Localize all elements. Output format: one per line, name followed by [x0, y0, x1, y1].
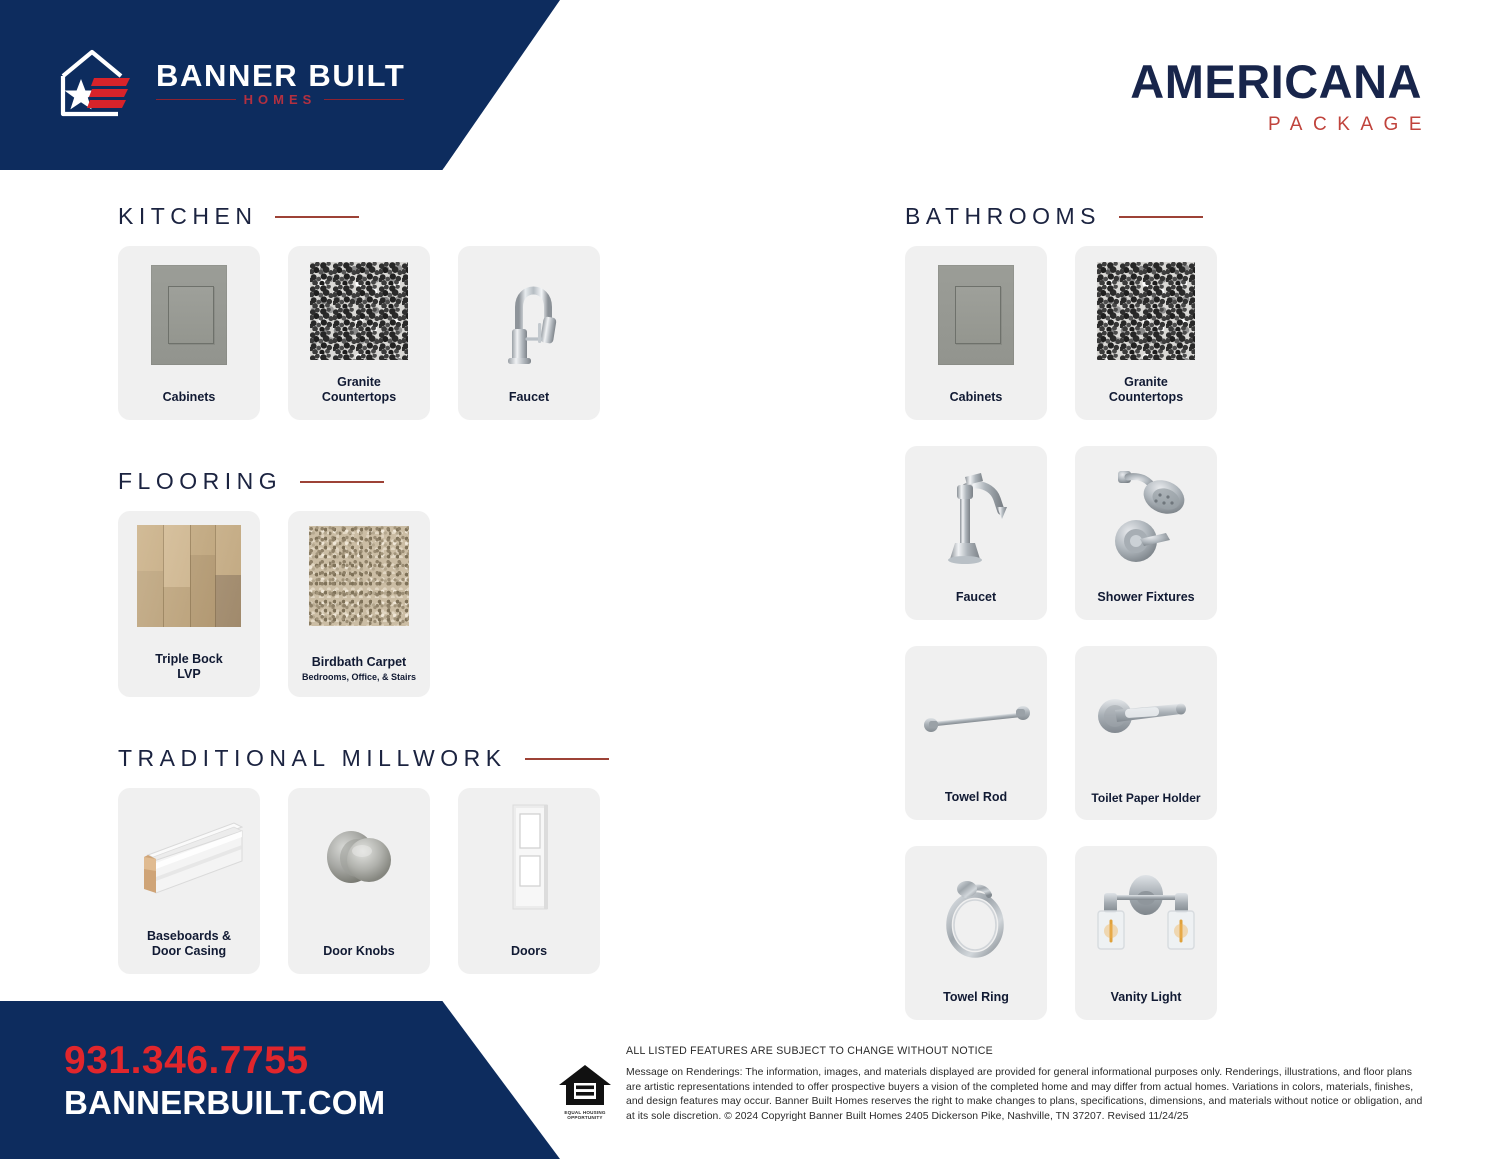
card-flooring-carpet[interactable]: Birdbath Carpet Bedrooms, Office, & Stai…	[288, 511, 430, 697]
toilet-paper-holder-icon	[1085, 659, 1207, 771]
card-label: Shower Fixtures	[1097, 590, 1194, 606]
section-header-kitchen: KITCHEN	[118, 205, 638, 228]
section-kitchen: KITCHEN Cabinets Granite Countert	[118, 205, 638, 420]
equal-housing-opportunity-icon	[556, 1059, 614, 1117]
lvp-plank-swatch-icon	[128, 524, 250, 628]
card-millwork-doors[interactable]: Doors	[458, 788, 600, 974]
card-label: Vanity Light	[1111, 990, 1182, 1006]
card-flooring-lvp[interactable]: Triple Bock LVP	[118, 511, 260, 697]
card-label: Faucet	[956, 590, 996, 606]
disclaimer-block: ALL LISTED FEATURES ARE SUBJECT TO CHANG…	[626, 1045, 1426, 1125]
card-bath-towel-rod[interactable]: Towel Rod	[905, 646, 1047, 820]
card-label-line1: Granite	[1124, 375, 1168, 389]
card-label: Doors	[511, 944, 547, 960]
logo-subtitle: HOMES	[244, 93, 317, 106]
company-logo[interactable]: BANNER BUILT HOMES	[58, 46, 405, 120]
section-divider	[525, 758, 609, 760]
card-label-line2: Countertops	[322, 390, 396, 404]
card-label-line1: Granite	[337, 375, 381, 389]
card-millwork-baseboards[interactable]: Baseboards & Door Casing	[118, 788, 260, 974]
card-row-kitchen: Cabinets Granite Countertops	[118, 246, 638, 420]
logo-title: BANNER BUILT	[156, 60, 405, 91]
banner-built-house-icon	[58, 46, 140, 120]
eho-caption-line1: EQUAL HOUSING	[564, 1110, 605, 1115]
baseboard-molding-icon	[128, 801, 250, 913]
card-label: Cabinets	[163, 390, 216, 406]
door-knob-icon	[298, 801, 420, 913]
section-divider	[1119, 216, 1203, 218]
section-millwork: TRADITIONAL MILLWORK	[118, 747, 638, 974]
card-row-bath-4: Towel Ring	[905, 846, 1235, 1020]
card-bath-tp-holder[interactable]: Toilet Paper Holder	[1075, 646, 1217, 820]
card-label-line2: Door Casing	[152, 944, 226, 958]
cabinet-door-swatch-icon	[915, 259, 1037, 371]
page-subtitle: PACKAGE	[1130, 115, 1432, 134]
card-kitchen-faucet[interactable]: Faucet	[458, 246, 600, 420]
section-title-flooring: FLOORING	[118, 470, 282, 493]
section-header-millwork: TRADITIONAL MILLWORK	[118, 747, 638, 770]
left-column: KITCHEN Cabinets Granite Countert	[118, 205, 638, 978]
disclaimer-heading: ALL LISTED FEATURES ARE SUBJECT TO CHANG…	[626, 1045, 1426, 1057]
card-label: Toilet Paper Holder	[1091, 791, 1200, 806]
section-header-flooring: FLOORING	[118, 470, 638, 493]
card-row-millwork: Baseboards & Door Casing	[118, 788, 638, 974]
card-millwork-doorknobs[interactable]: Door Knobs	[288, 788, 430, 974]
card-label: Granite Countertops	[322, 375, 396, 407]
card-label-line1: Triple Bock	[155, 652, 222, 666]
section-divider	[275, 216, 359, 218]
section-flooring: FLOORING	[118, 470, 638, 697]
towel-rod-icon	[915, 659, 1037, 771]
card-row-flooring: Triple Bock LVP Birdbath Carpet Bedrooms…	[118, 511, 638, 697]
card-row-bath-3: Towel Rod	[905, 646, 1235, 820]
section-title-bathrooms: BATHROOMS	[905, 205, 1101, 228]
vanity-light-icon	[1085, 859, 1207, 971]
card-label-line2: Countertops	[1109, 390, 1183, 404]
bath-faucet-icon	[915, 459, 1037, 571]
section-bathrooms: BATHROOMS Cabinets Granite Counter	[905, 205, 1235, 1020]
card-kitchen-granite[interactable]: Granite Countertops	[288, 246, 430, 420]
card-label-line2: LVP	[177, 667, 200, 681]
card-sublabel: Bedrooms, Office, & Stairs	[302, 672, 416, 683]
phone-number[interactable]: 931.346.7755	[64, 1041, 385, 1082]
right-column: BATHROOMS Cabinets Granite Counter	[905, 205, 1235, 1024]
americana-package-flyer: BANNER BUILT HOMES AMERICANA PACKAGE KIT…	[0, 0, 1500, 1159]
logo-rule-left	[156, 99, 236, 101]
page-title: AMERICANA	[1130, 58, 1422, 105]
card-row-bath-1: Cabinets Granite Countertops	[905, 246, 1235, 420]
card-label: Birdbath Carpet	[312, 655, 406, 671]
card-row-bath-2: Faucet	[905, 446, 1235, 620]
section-header-bathrooms: BATHROOMS	[905, 205, 1235, 228]
towel-ring-icon	[915, 859, 1037, 971]
card-bath-cabinets[interactable]: Cabinets	[905, 246, 1047, 420]
card-bath-faucet[interactable]: Faucet	[905, 446, 1047, 620]
card-label: Towel Ring	[943, 990, 1009, 1006]
card-label: Cabinets	[950, 390, 1003, 406]
card-label: Door Knobs	[323, 944, 395, 960]
card-label: Granite Countertops	[1109, 375, 1183, 407]
card-label: Faucet	[509, 390, 549, 406]
card-bath-shower[interactable]: Shower Fixtures	[1075, 446, 1217, 620]
footer-contact: 931.346.7755 BANNERBUILT.COM	[64, 1041, 385, 1121]
card-bath-towel-ring[interactable]: Towel Ring	[905, 846, 1047, 1020]
interior-door-icon	[468, 801, 590, 913]
card-bath-granite[interactable]: Granite Countertops	[1075, 246, 1217, 420]
website-url[interactable]: BANNERBUILT.COM	[64, 1085, 385, 1121]
kitchen-faucet-icon	[468, 259, 590, 371]
equal-housing-caption: EQUAL HOUSING OPPORTUNITY	[551, 1110, 619, 1121]
card-label: Baseboards & Door Casing	[147, 929, 231, 961]
section-divider	[300, 481, 384, 483]
card-bath-vanity-light[interactable]: Vanity Light	[1075, 846, 1217, 1020]
section-title-millwork: TRADITIONAL MILLWORK	[118, 747, 507, 770]
card-label-line1: Baseboards &	[147, 929, 231, 943]
cabinet-door-swatch-icon	[128, 259, 250, 371]
eho-caption-line2: OPPORTUNITY	[567, 1115, 602, 1120]
carpet-swatch-icon	[298, 524, 420, 628]
disclaimer-body: Message on Renderings: The information, …	[626, 1066, 1426, 1125]
section-title-kitchen: KITCHEN	[118, 205, 257, 228]
card-label: Towel Rod	[945, 790, 1007, 806]
card-label: Triple Bock LVP	[155, 652, 222, 684]
granite-swatch-icon	[298, 259, 420, 363]
logo-rule-right	[324, 99, 404, 101]
card-kitchen-cabinets[interactable]: Cabinets	[118, 246, 260, 420]
shower-fixtures-icon	[1085, 459, 1207, 571]
package-title-block: AMERICANA PACKAGE	[1130, 58, 1422, 134]
logo-subtitle-row: HOMES	[156, 93, 404, 106]
granite-swatch-icon	[1085, 259, 1207, 363]
